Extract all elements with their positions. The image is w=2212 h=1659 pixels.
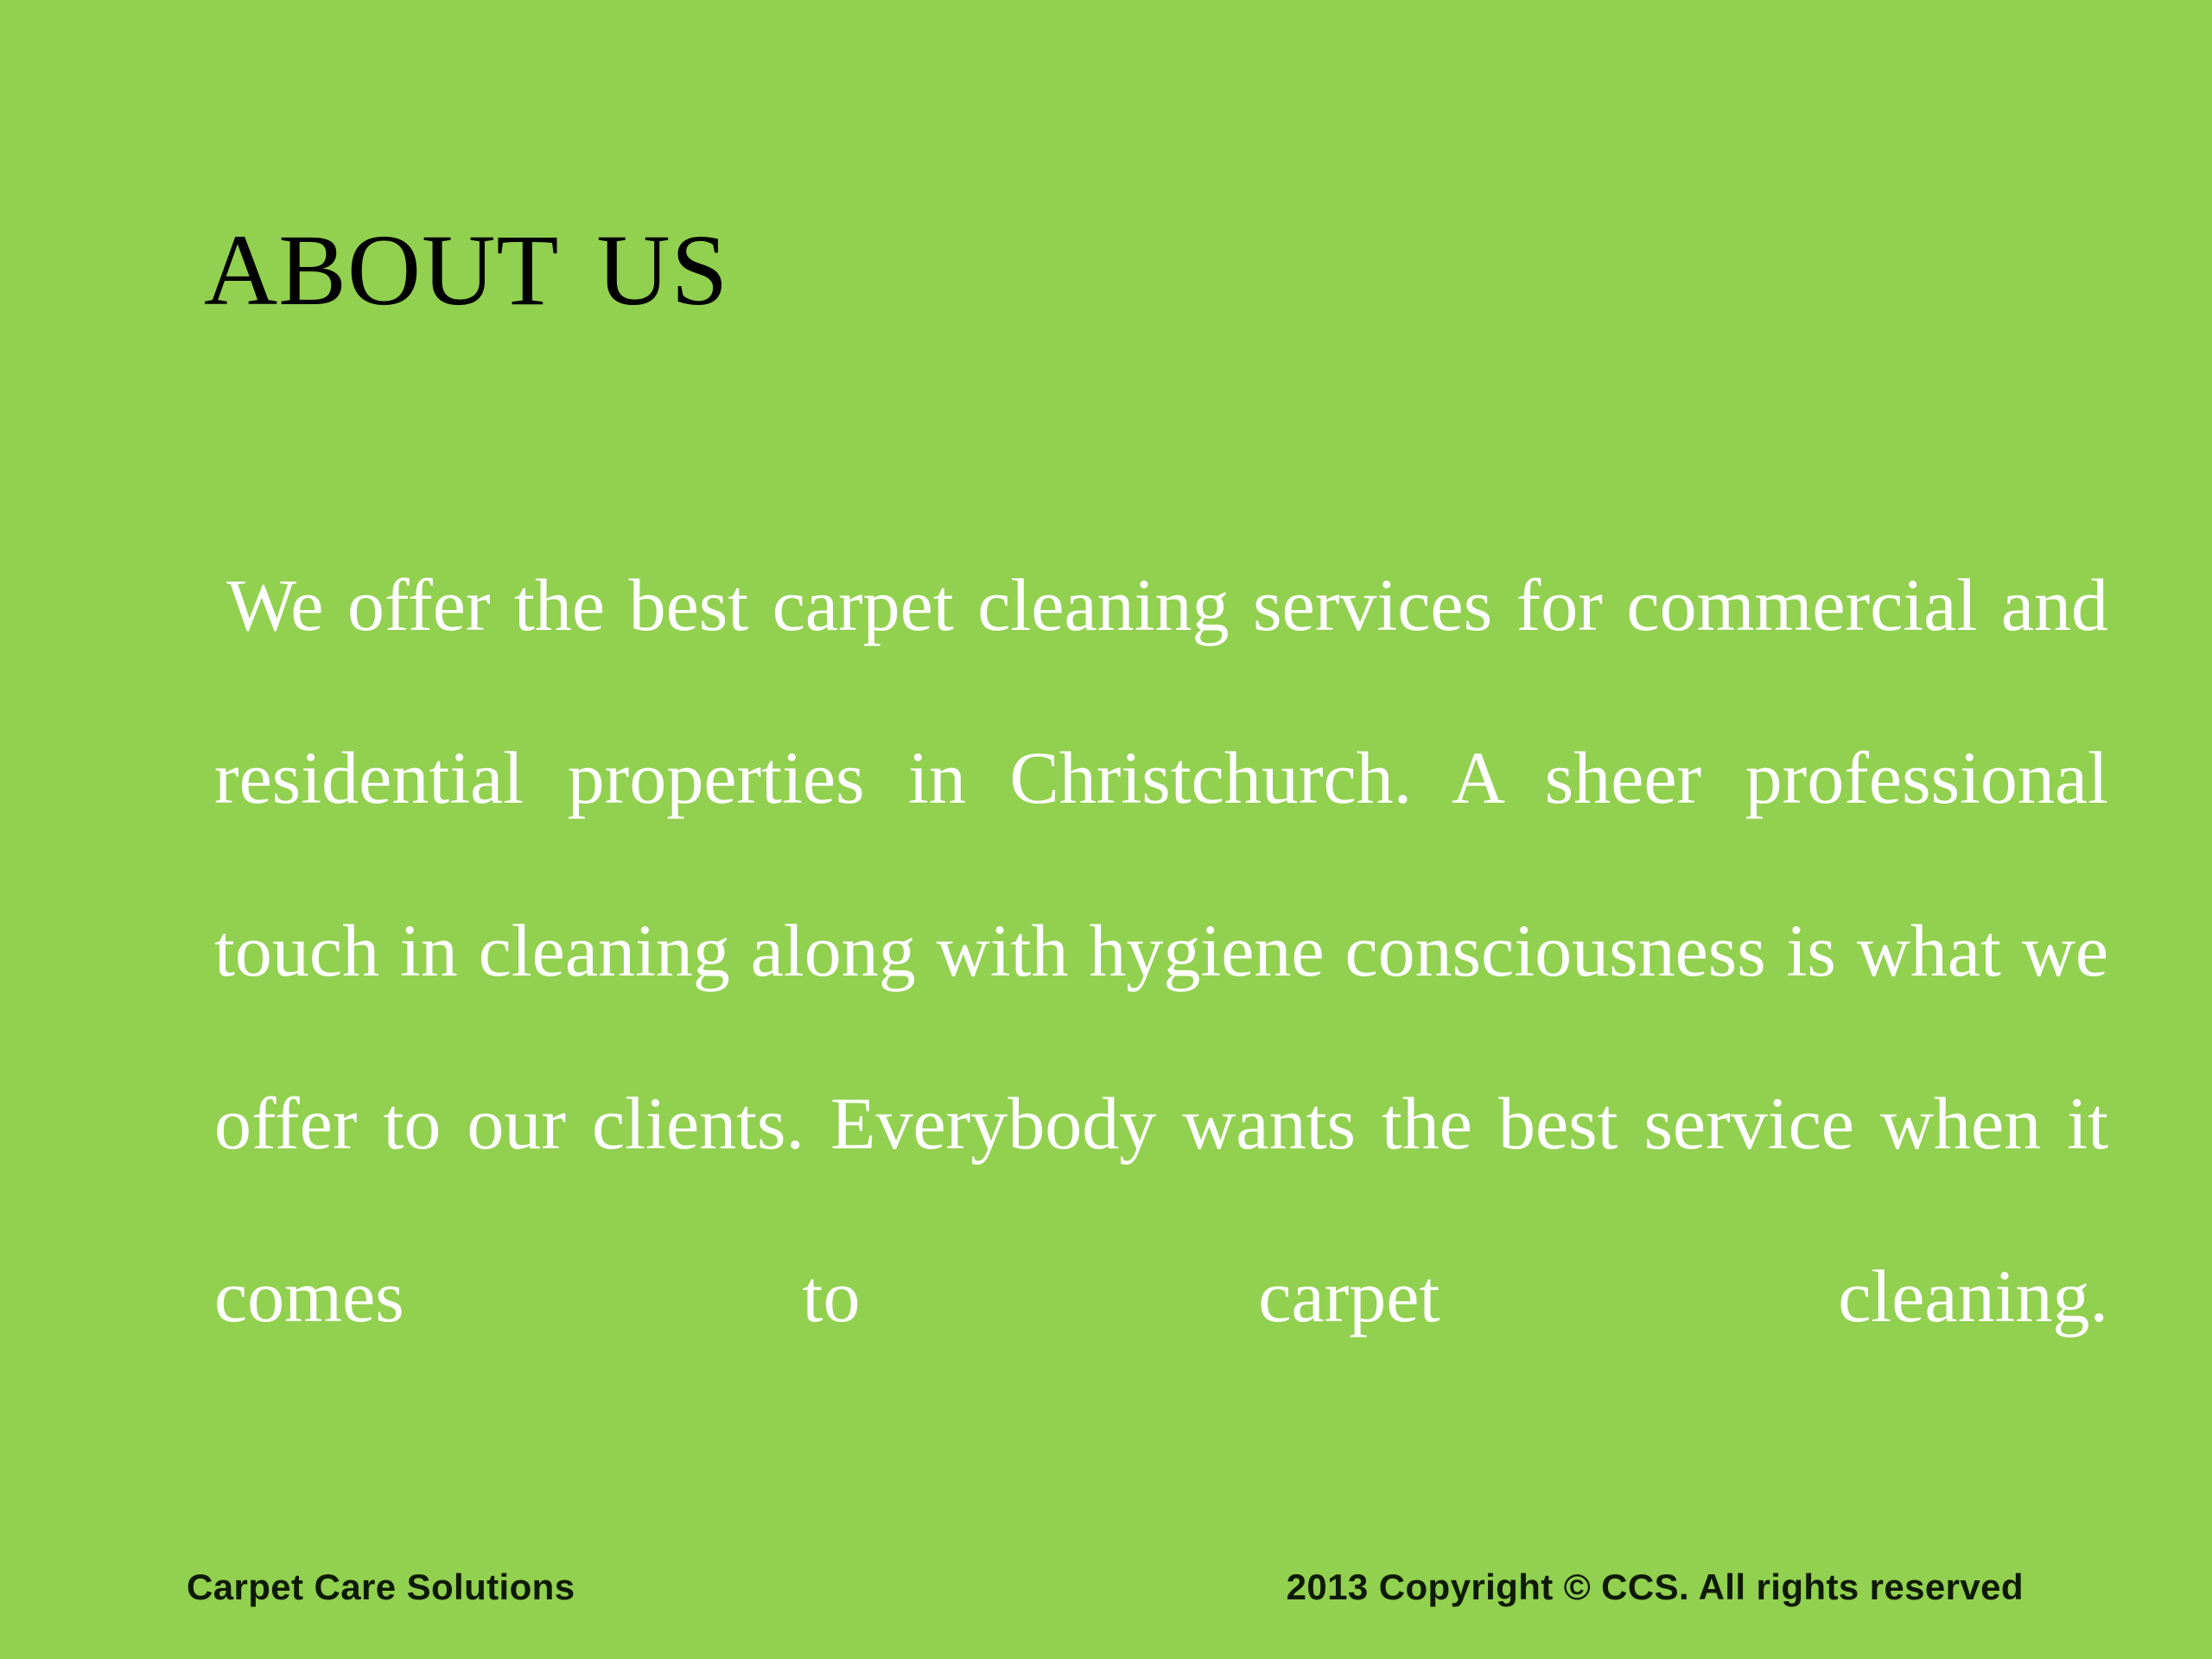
presentation-slide: About Us We offer the best carpet cleani… [0, 0, 2212, 1659]
slide-footer: Carpet Care Solutions 2013 Copyright © C… [0, 1557, 2212, 1618]
page-title: About Us [204, 183, 2018, 328]
body-text-block: We offer the best carpet cleaning servic… [214, 518, 2108, 1555]
footer-company-name: Carpet Care Solutions [187, 1557, 575, 1618]
about-us-paragraph: We offer the best carpet cleaning servic… [214, 518, 2108, 1555]
footer-copyright: 2013 Copyright © CCS. All rights reserve… [1287, 1557, 2024, 1618]
